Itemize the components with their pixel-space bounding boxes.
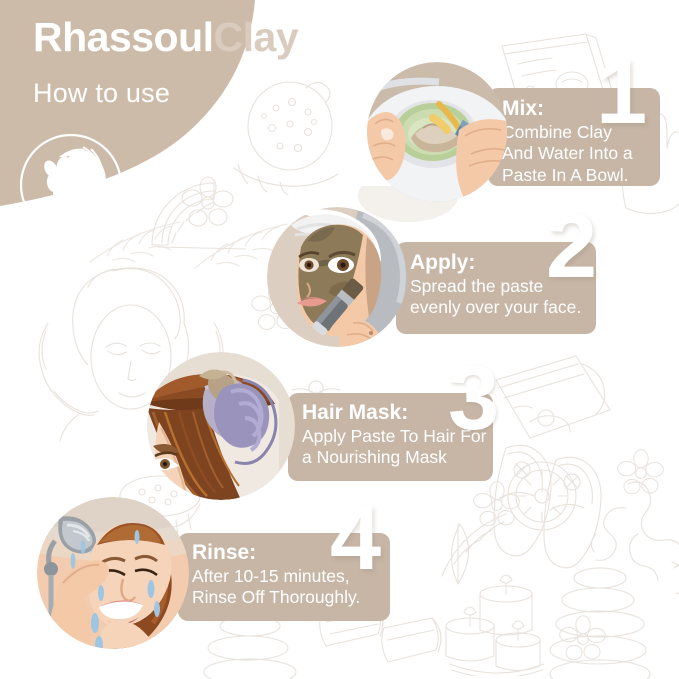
stacked-stones-watermark <box>548 566 658 679</box>
title-primary: Rhassoul <box>33 14 214 60</box>
flower-watermark <box>470 480 524 532</box>
rinsing-in-shower-photo <box>37 497 189 649</box>
lavender-sprig-watermark <box>438 516 478 586</box>
flower-watermark <box>614 448 668 500</box>
step-1-number: 1 <box>596 46 647 138</box>
candles-watermark <box>444 572 566 676</box>
brand-logo <box>19 133 123 237</box>
mixing-clay-in-bowl-photo <box>367 62 507 202</box>
page-subtitle: How to use <box>33 78 170 109</box>
towel-stack-watermark <box>486 352 616 468</box>
ginger-root-watermark <box>586 478 679 598</box>
slippers-watermark <box>480 440 610 570</box>
title-secondary: Clay <box>214 14 299 60</box>
stacked-stones-watermark <box>198 612 308 679</box>
step-4-number: 4 <box>330 492 381 584</box>
applying-mask-to-face-photo <box>267 207 407 347</box>
step-2-number: 2 <box>546 200 597 292</box>
applying-paste-to-hair-photo <box>147 352 295 500</box>
step-3-number: 3 <box>448 352 499 444</box>
soap-bar-watermark <box>496 452 588 542</box>
lavender-sprig-watermark <box>436 506 526 586</box>
infographic-canvas: RhassoulClay How to use <box>0 0 679 679</box>
flower-watermark <box>556 614 610 666</box>
page-title: RhassoulClay <box>33 16 298 59</box>
